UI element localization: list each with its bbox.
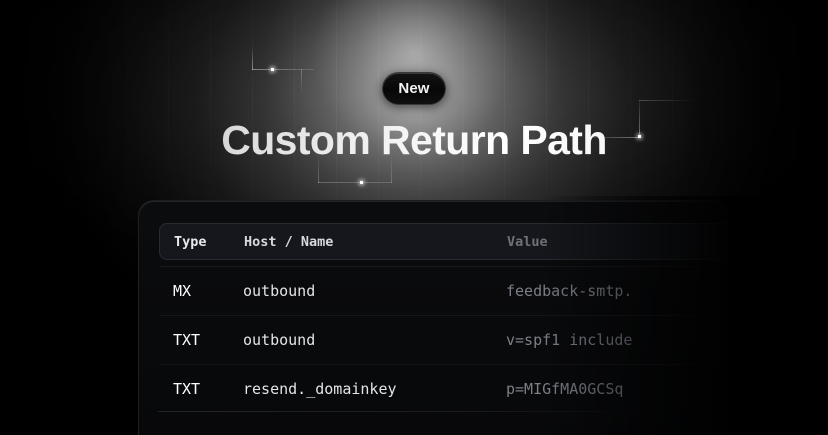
- dns-records-table: Type Host / Name Value MX outbound feedb…: [159, 223, 728, 413]
- background-grid-lines: [0, 0, 828, 215]
- cell-value: p=MIGfMA0GCSq: [506, 380, 728, 398]
- column-header-host: Host / Name: [244, 234, 507, 250]
- page-title: Custom Return Path: [0, 117, 828, 163]
- cell-type: TXT: [159, 380, 243, 398]
- crop-mark-top-left-icon: [252, 46, 314, 94]
- column-header-value: Value: [507, 234, 728, 250]
- cell-host: outbound: [243, 282, 506, 300]
- table-header-row: Type Host / Name Value: [159, 223, 728, 260]
- column-header-type: Type: [160, 234, 244, 250]
- new-badge-label: New: [398, 81, 429, 96]
- dns-records-card: Type Host / Name Value MX outbound feedb…: [138, 200, 728, 435]
- table-row[interactable]: MX outbound feedback-smtp.: [159, 266, 728, 315]
- cell-type: MX: [159, 282, 243, 300]
- cell-value: v=spf1 include: [506, 331, 728, 349]
- new-badge: New: [382, 72, 446, 105]
- table-row[interactable]: TXT resend._domainkey p=MIGfMA0GCSq: [159, 364, 728, 413]
- cell-host: outbound: [243, 331, 506, 349]
- hero-banner: New Custom Return Path Type Host / Name …: [0, 0, 828, 435]
- cell-host: resend._domainkey: [243, 380, 506, 398]
- table-row[interactable]: TXT outbound v=spf1 include: [159, 315, 728, 364]
- cell-value: feedback-smtp.: [506, 282, 728, 300]
- cell-type: TXT: [159, 331, 243, 349]
